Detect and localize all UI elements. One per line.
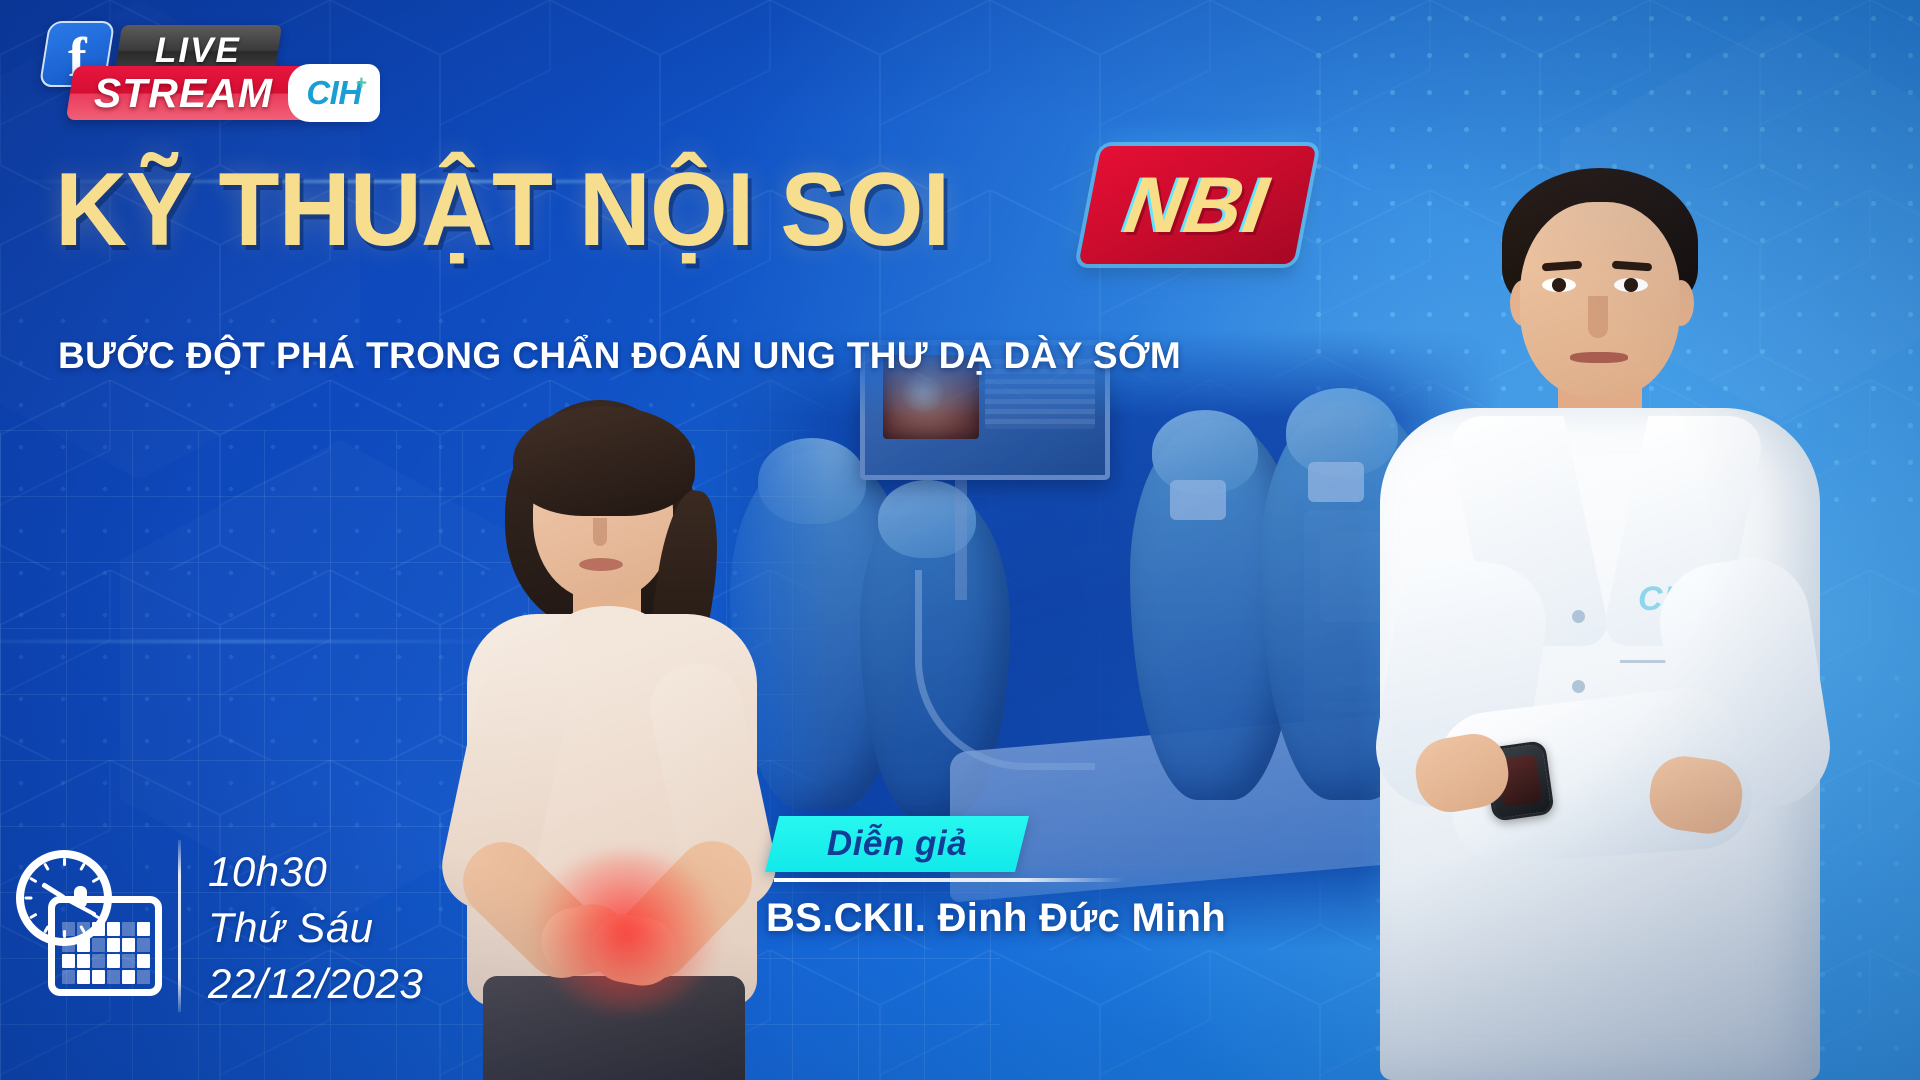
schedule-text: 10h30 Thứ Sáu 22/12/2023 [208, 844, 423, 1012]
schedule-block: 10h30 Thứ Sáu 22/12/2023 [10, 832, 430, 1022]
stream-badge: STREAM CIH + [66, 66, 379, 120]
banner-canvas: CIH f LIVE STREAM CIH + KỸ THUẬT NỘI SOI… [0, 0, 1920, 1080]
speaker-block: Diễn giả BS.CKII. Đinh Đức Minh [760, 816, 1280, 976]
page-subtitle: BƯỚC ĐỘT PHÁ TRONG CHẨN ĐOÁN UNG THƯ DẠ … [58, 335, 1181, 377]
schedule-time: 10h30 [208, 844, 423, 900]
live-label: LIVE [155, 31, 241, 71]
medical-cross-icon: + [356, 73, 367, 95]
calendar-grid [62, 922, 150, 984]
cih-logo-chip: CIH + [288, 64, 380, 122]
nbi-label: NBI [1083, 159, 1313, 251]
cih-label: CIH [306, 74, 361, 112]
schedule-weekday: Thứ Sáu [208, 900, 423, 956]
speaker-name: BS.CKII. Đinh Đức Minh [766, 896, 1226, 941]
nbi-badge: NBI [1079, 146, 1317, 264]
schedule-date: 22/12/2023 [208, 956, 423, 1012]
divider [178, 840, 181, 1012]
speaker-underline [774, 878, 1124, 882]
clock-calendar-icon [10, 848, 160, 998]
speaker-badge: Diễn giả [765, 816, 1029, 872]
headline-group: KỸ THUẬT NỘI SOI NBI [55, 158, 1235, 288]
speaker-badge-label: Diễn giả [772, 824, 1022, 864]
stream-label: STREAM [94, 70, 273, 117]
page-title: KỸ THUẬT NỘI SOI [55, 158, 1188, 262]
facebook-livestream-logo: f LIVE STREAM CIH + [44, 18, 374, 122]
